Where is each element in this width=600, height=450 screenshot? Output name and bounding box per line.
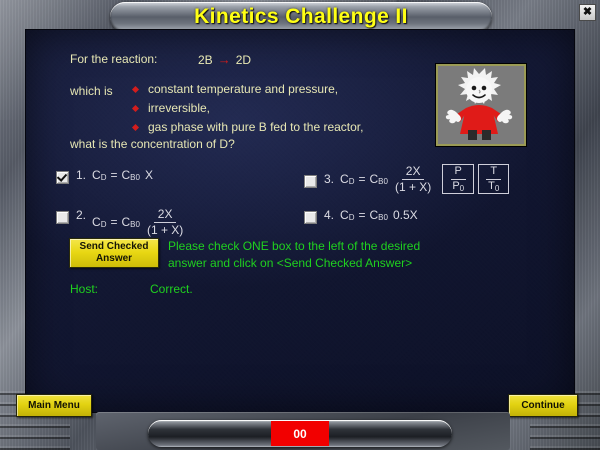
formula-fraction: 2X (1 + X) [391, 165, 435, 193]
formula-coef-sub: B0 [378, 177, 388, 186]
checkbox-option-4[interactable] [304, 211, 317, 224]
answer-option-1[interactable]: 1. CD = CB0 X [56, 168, 153, 184]
answer-option-2[interactable]: 2. CD = CB0 2X (1 + X) [56, 208, 190, 236]
bracket-temperature-ratio: T T0 [478, 164, 509, 194]
formula-coef: C [369, 208, 378, 222]
formula-coef-sub: B0 [130, 173, 140, 182]
title-bar: Kinetics Challenge II [110, 2, 492, 32]
formula-equals: = [106, 168, 121, 182]
counter-display: 00 [271, 421, 329, 446]
formula-coef-sub: B0 [378, 213, 388, 222]
formula-coef: C [121, 215, 130, 229]
formula-fraction: 2X (1 + X) [143, 208, 187, 236]
fraction-numerator: 2X [154, 208, 177, 223]
main-menu-button[interactable]: Main Menu [16, 394, 92, 417]
formula-lhs: C [340, 208, 349, 222]
send-checked-answer-button[interactable]: Send Checked Answer [69, 238, 159, 268]
instruction-text: Please check ONE box to the left of the … [168, 238, 420, 273]
option-formula: CD = CB0 0.5X [340, 208, 418, 222]
page-title: Kinetics Challenge II [194, 5, 408, 29]
fraction-denominator: P0 [448, 180, 468, 193]
formula-lhs-sub: D [349, 177, 355, 186]
question-prompt: what is the concentration of D? [70, 137, 235, 151]
formula-lhs-sub: D [101, 220, 107, 229]
reaction-label: For the reaction: [70, 52, 157, 66]
formula-tail: 0.5X [388, 208, 418, 222]
answer-option-3[interactable]: 3. CD = CB0 2X (1 + X) P P0 T [304, 164, 509, 194]
boy-cartoon-icon [438, 66, 520, 140]
bracket-pressure-ratio: P P0 [442, 164, 474, 194]
formula-lhs-sub: D [349, 213, 355, 222]
reaction-arrow-icon: → [213, 52, 236, 67]
fraction-denominator: (1 + X) [143, 223, 187, 237]
formula-lhs: C [92, 215, 101, 229]
send-button-line1: Send Checked [80, 241, 149, 254]
checkbox-option-1[interactable] [56, 171, 69, 184]
send-button-line2: Answer [96, 253, 132, 266]
host-message: Correct. [150, 282, 193, 296]
content-screen: For the reaction: 2B→2D which is constan… [26, 30, 574, 412]
temperature-fraction: T T0 [484, 166, 503, 192]
formula-lhs-sub: D [101, 173, 107, 182]
checkbox-option-3[interactable] [304, 175, 317, 188]
checkbox-option-2[interactable] [56, 211, 69, 224]
which-is-label: which is [70, 84, 113, 98]
instruction-line-2: answer and click on <Send Checked Answer… [168, 255, 420, 272]
formula-equals: = [354, 208, 369, 222]
fraction-denominator: T0 [484, 180, 503, 193]
status-bar: 00 [148, 420, 452, 447]
application-window: Kinetics Challenge II ✖ For the reaction… [0, 0, 600, 450]
fraction-numerator: 2X [402, 165, 425, 180]
instruction-line-1: Please check ONE box to the left of the … [168, 238, 420, 255]
condition-list: constant temperature and pressure, irrev… [130, 82, 363, 139]
mascot-image [436, 64, 526, 146]
formula-lhs: C [92, 168, 101, 182]
host-label: Host: [70, 282, 98, 296]
formula-coef-sub: B0 [130, 220, 140, 229]
option-number: 4. [324, 208, 334, 222]
continue-button[interactable]: Continue [508, 394, 578, 417]
answer-option-4[interactable]: 4. CD = CB0 0.5X [304, 208, 418, 224]
option-formula: CD = CB0 X [92, 168, 153, 182]
close-icon[interactable]: ✖ [579, 4, 596, 21]
fraction-numerator: T [486, 166, 501, 180]
list-item: irreversible, [130, 101, 363, 115]
option-formula: CD = CB0 2X (1 + X) [92, 208, 190, 236]
formula-tail: X [140, 168, 153, 182]
formula-coef: C [121, 168, 130, 182]
option-number: 2. [76, 208, 86, 222]
option-number: 3. [324, 172, 334, 186]
reaction-equation: 2B→2D [198, 52, 251, 67]
pressure-fraction: P P0 [448, 166, 468, 192]
formula-equals: = [106, 215, 121, 229]
list-item: constant temperature and pressure, [130, 82, 363, 96]
reaction-reactant: 2B [198, 53, 213, 67]
formula-equals: = [354, 172, 369, 186]
option-number: 1. [76, 168, 86, 182]
fraction-numerator: P [451, 166, 466, 180]
reaction-product: 2D [236, 53, 251, 67]
formula-coef: C [369, 172, 378, 186]
formula-lhs: C [340, 172, 349, 186]
option-formula: CD = CB0 2X (1 + X) P P0 T T0 [340, 164, 509, 194]
list-item: gas phase with pure B fed to the reactor… [130, 120, 363, 134]
fraction-denominator: (1 + X) [391, 180, 435, 194]
